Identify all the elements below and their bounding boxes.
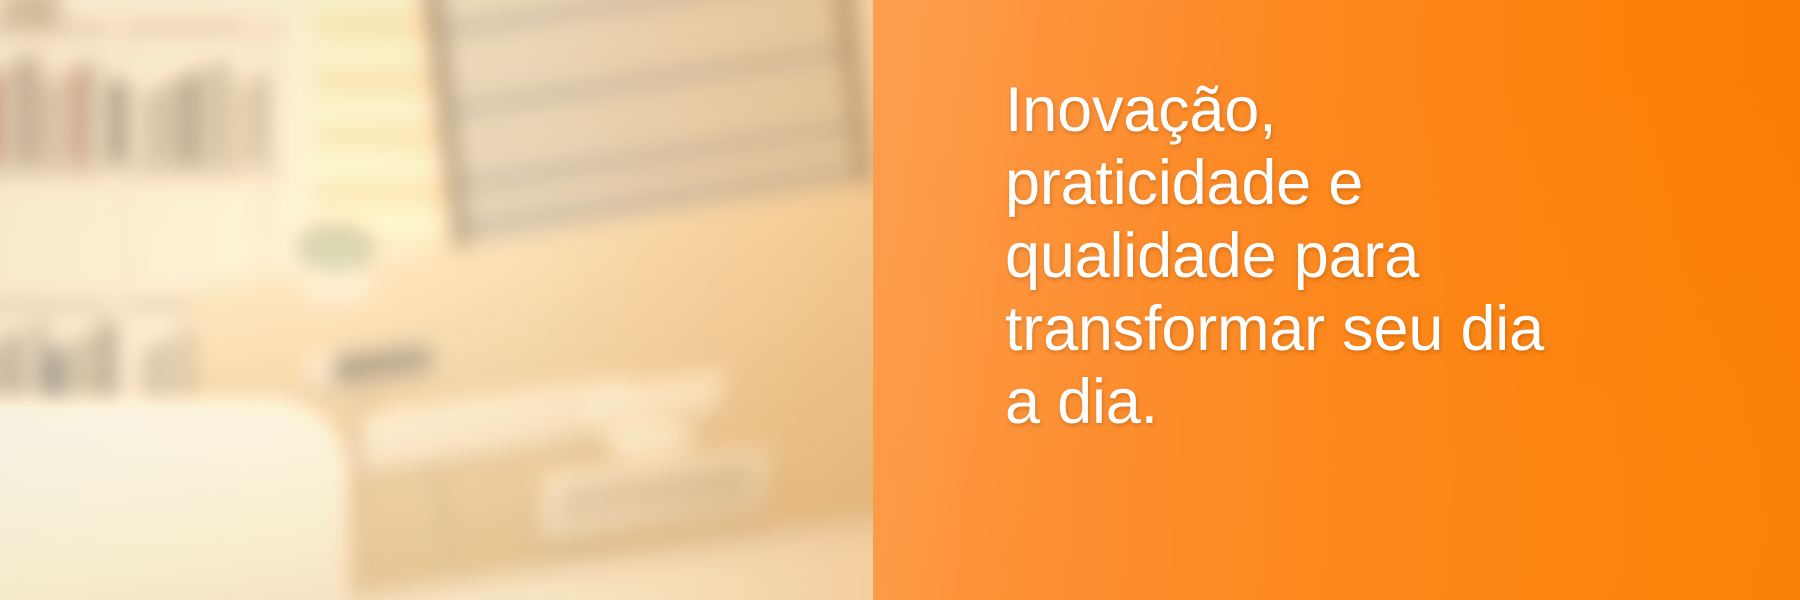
promo-banner: Inovação, praticidade e qualidade para t…	[0, 0, 1800, 600]
office-chair	[0, 398, 350, 600]
office-photo	[0, 0, 880, 600]
book-row	[0, 52, 126, 164]
laptop-slot	[557, 464, 753, 528]
office-photo-scene	[0, 0, 880, 600]
shelf-board	[0, 165, 280, 177]
plant-leaves	[296, 222, 376, 274]
book-row	[146, 60, 270, 164]
headline-text: Inovação, praticidade e qualidade para t…	[1005, 74, 1765, 439]
orange-content-panel: Inovação, praticidade e qualidade para t…	[873, 0, 1800, 600]
decorative-vase	[0, 0, 60, 26]
